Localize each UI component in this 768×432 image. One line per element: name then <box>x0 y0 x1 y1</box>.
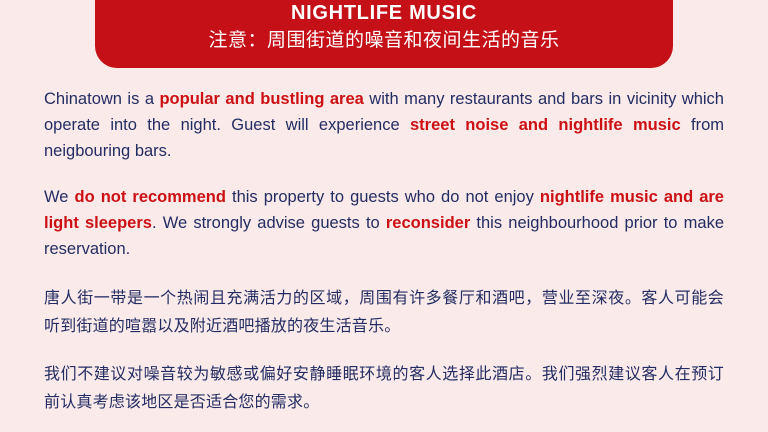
text-segment: We <box>44 188 75 206</box>
paragraph-chinese-1: 唐人街一带是一个热闹且充满活力的区域，周围有许多餐厅和酒吧，营业至深夜。客人可能… <box>44 284 724 340</box>
notice-body: Chinatown is a popular and bustling area… <box>44 86 724 416</box>
banner-subtitle-chinese: 注意：周围街道的噪音和夜间生活的音乐 <box>208 29 559 53</box>
banner-title: NIGHTLIFE MUSIC <box>291 2 477 24</box>
highlight-reconsider: reconsider <box>386 214 470 232</box>
paragraph-english-2: We do not recommend this property to gue… <box>44 184 724 262</box>
highlight-street-noise-nightlife-music: street noise and nightlife music <box>410 116 681 134</box>
text-segment: Chinatown is a <box>44 90 159 108</box>
paragraph-chinese-2: 我们不建议对噪音较为敏感或偏好安静睡眠环境的客人选择此酒店。我们强烈建议客人在预… <box>44 360 724 416</box>
text-segment: this property to guests who do not enjoy <box>226 188 540 206</box>
notice-page: NIGHTLIFE MUSIC 注意：周围街道的噪音和夜间生活的音乐 China… <box>0 0 768 432</box>
highlight-popular-bustling-area: popular and bustling area <box>159 90 363 108</box>
highlight-do-not-recommend: do not recommend <box>75 188 226 206</box>
notice-banner: NIGHTLIFE MUSIC 注意：周围街道的噪音和夜间生活的音乐 <box>95 0 673 68</box>
paragraph-english-1: Chinatown is a popular and bustling area… <box>44 86 724 164</box>
text-segment: . We strongly advise guests to <box>152 214 386 232</box>
